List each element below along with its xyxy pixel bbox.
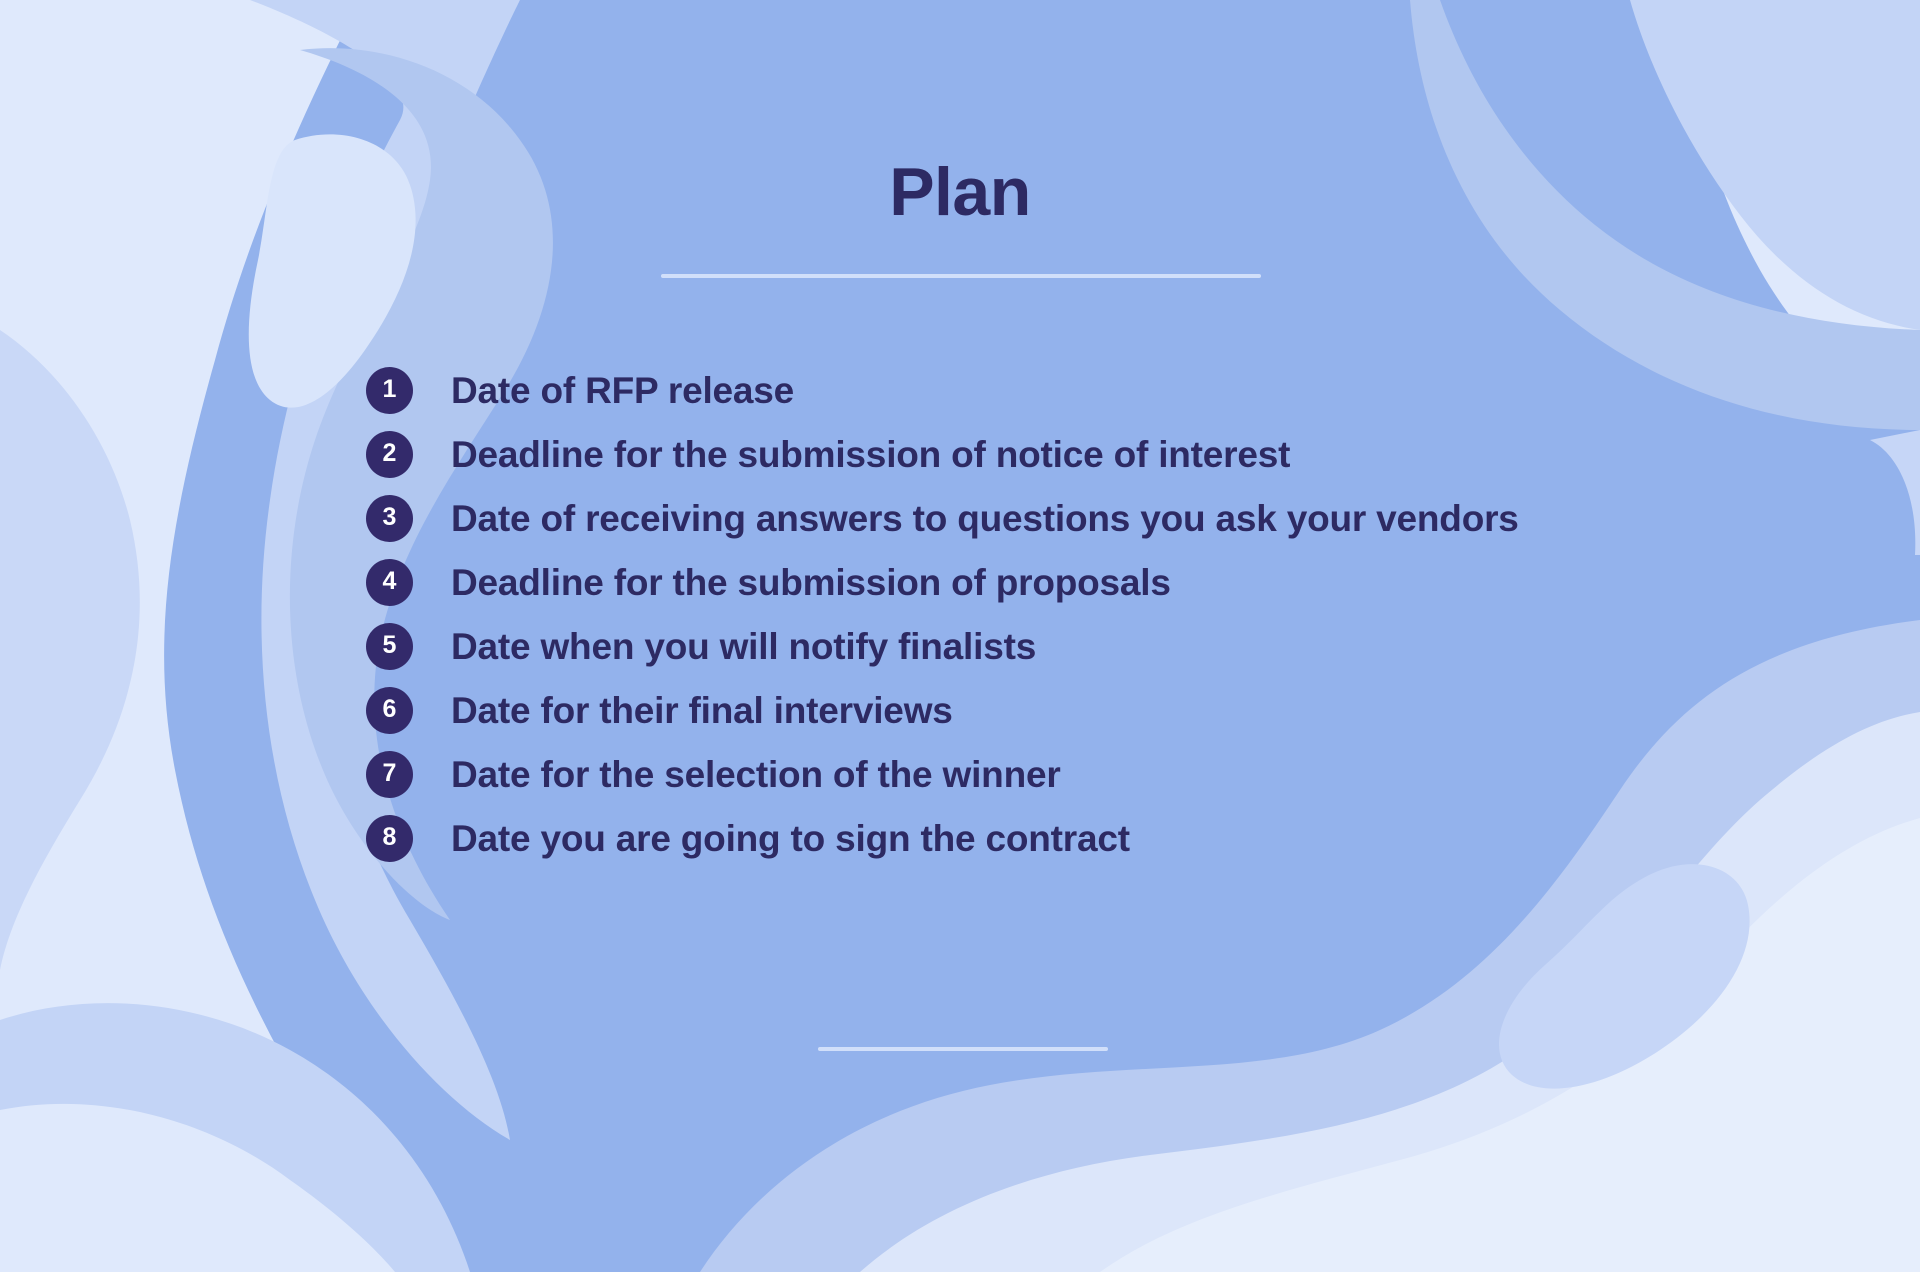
list-item-number-badge: 6 — [366, 687, 413, 734]
slide-canvas: Plan 1 Date of RFP release 2 Deadline fo… — [0, 0, 1920, 1272]
list-item-number-badge: 7 — [366, 751, 413, 798]
list-item-label: Date for the selection of the winner — [451, 756, 1061, 793]
list-item-label: Date of RFP release — [451, 372, 794, 409]
plan-list: 1 Date of RFP release 2 Deadline for the… — [366, 358, 1766, 870]
list-item[interactable]: 2 Deadline for the submission of notice … — [366, 422, 1766, 486]
list-item[interactable]: 5 Date when you will notify finalists — [366, 614, 1766, 678]
page-title: Plan — [0, 158, 1920, 226]
list-item-number-badge: 4 — [366, 559, 413, 606]
list-item[interactable]: 6 Date for their final interviews — [366, 678, 1766, 742]
list-item-number-badge: 8 — [366, 815, 413, 862]
list-item-label: Date you are going to sign the contract — [451, 820, 1130, 857]
list-item-label: Deadline for the submission of proposals — [451, 564, 1171, 601]
divider-top — [661, 274, 1261, 278]
list-item[interactable]: 8 Date you are going to sign the contrac… — [366, 806, 1766, 870]
list-item-number-badge: 1 — [366, 367, 413, 414]
list-item-label: Date of receiving answers to questions y… — [451, 500, 1519, 537]
list-item-label: Deadline for the submission of notice of… — [451, 436, 1290, 473]
list-item-label: Date when you will notify finalists — [451, 628, 1036, 665]
list-item[interactable]: 1 Date of RFP release — [366, 358, 1766, 422]
list-item[interactable]: 3 Date of receiving answers to questions… — [366, 486, 1766, 550]
divider-bottom — [818, 1047, 1108, 1051]
list-item[interactable]: 7 Date for the selection of the winner — [366, 742, 1766, 806]
list-item-number-badge: 5 — [366, 623, 413, 670]
list-item[interactable]: 4 Deadline for the submission of proposa… — [366, 550, 1766, 614]
list-item-number-badge: 2 — [366, 431, 413, 478]
list-item-label: Date for their final interviews — [451, 692, 953, 729]
list-item-number-badge: 3 — [366, 495, 413, 542]
